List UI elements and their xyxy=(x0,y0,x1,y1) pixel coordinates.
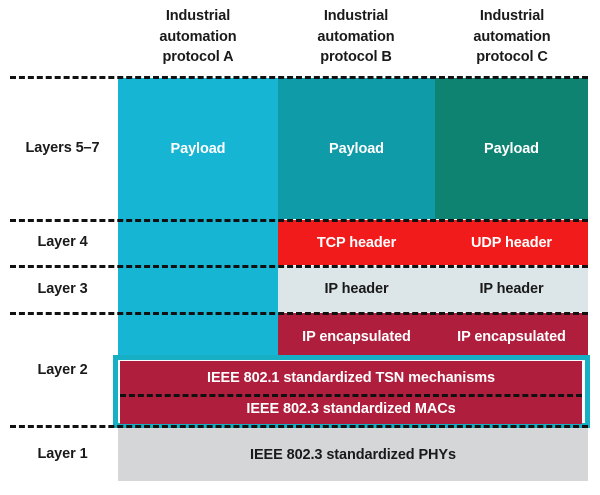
cell-ip-header-c-label: IP header xyxy=(479,281,543,297)
divider-layer3-layer2 xyxy=(10,312,588,315)
row-label-layer-3: Layer 3 xyxy=(10,281,115,297)
column-header-c-line3: protocol C xyxy=(432,47,592,68)
cell-ip-encapsulated-c-label: IP encapsulated xyxy=(457,329,566,345)
cell-tsn-mechanisms-label: IEEE 802.1 standardized TSN mechanisms xyxy=(207,370,495,386)
divider-above-layers-5-7 xyxy=(10,76,588,79)
column-header-a-line2: automation xyxy=(118,27,278,48)
row-label-layer-2: Layer 2 xyxy=(10,362,115,378)
column-header-c-line1: Industrial xyxy=(432,6,592,27)
cell-standardized-phys: IEEE 802.3 standardized PHYs xyxy=(118,428,588,481)
cell-standardized-macs: IEEE 802.3 standardized MACs xyxy=(120,394,582,424)
column-header-b-line1: Industrial xyxy=(276,6,436,27)
row-label-layers-5-7-text: Layers 5–7 xyxy=(26,140,100,156)
cell-payload-protocol-c: Payload xyxy=(435,78,588,219)
cell-ip-encapsulated-b-label: IP encapsulated xyxy=(302,329,411,345)
cell-payload-c-label: Payload xyxy=(484,141,539,157)
protocol-stack-diagram: Industrial automation protocol A Industr… xyxy=(0,0,600,495)
cell-payload-b-label: Payload xyxy=(329,141,384,157)
cell-payload-protocol-b: Payload xyxy=(278,78,435,219)
cell-standardized-macs-label: IEEE 802.3 standardized MACs xyxy=(246,401,455,417)
cell-tcp-header-label: TCP header xyxy=(317,235,396,251)
divider-layer2-layer1 xyxy=(10,425,588,428)
divider-layer4-layer3 xyxy=(10,265,588,268)
cell-ip-header-b: IP header xyxy=(278,266,435,312)
cell-tcp-header: TCP header xyxy=(278,220,435,265)
layer2-inner-divider xyxy=(120,394,582,397)
row-label-layers-5-7: Layers 5–7 xyxy=(10,140,115,156)
row-label-layer-3-text: Layer 3 xyxy=(37,281,87,297)
column-header-b-line2: automation xyxy=(276,27,436,48)
column-header-protocol-b: Industrial automation protocol B xyxy=(276,6,436,68)
cell-udp-header: UDP header xyxy=(435,220,588,265)
cell-ip-encapsulated-c: IP encapsulated xyxy=(435,313,588,360)
cell-ip-header-c: IP header xyxy=(435,266,588,312)
cell-ip-header-b-label: IP header xyxy=(324,281,388,297)
cell-payload-protocol-a: Payload xyxy=(118,78,278,219)
cell-tsn-mechanisms: IEEE 802.1 standardized TSN mechanisms xyxy=(120,361,582,394)
row-label-layer-2-text: Layer 2 xyxy=(37,362,87,378)
column-header-a-line1: Industrial xyxy=(118,6,278,27)
row-label-layer-1: Layer 1 xyxy=(10,446,115,462)
divider-layers57-layer4 xyxy=(10,219,588,222)
column-header-c-line2: automation xyxy=(432,27,592,48)
cell-udp-header-label: UDP header xyxy=(471,235,552,251)
column-header-protocol-a: Industrial automation protocol A xyxy=(118,6,278,68)
cell-standardized-phys-label: IEEE 802.3 standardized PHYs xyxy=(250,447,456,463)
column-header-protocol-c: Industrial automation protocol C xyxy=(432,6,592,68)
column-header-a-line3: protocol A xyxy=(118,47,278,68)
cell-payload-a-label: Payload xyxy=(171,141,226,157)
cell-ip-encapsulated-b: IP encapsulated xyxy=(278,313,435,360)
row-label-layer-4-text: Layer 4 xyxy=(37,234,87,250)
row-label-layer-4: Layer 4 xyxy=(10,234,115,250)
column-header-b-line3: protocol B xyxy=(276,47,436,68)
row-label-layer-1-text: Layer 1 xyxy=(37,446,87,462)
